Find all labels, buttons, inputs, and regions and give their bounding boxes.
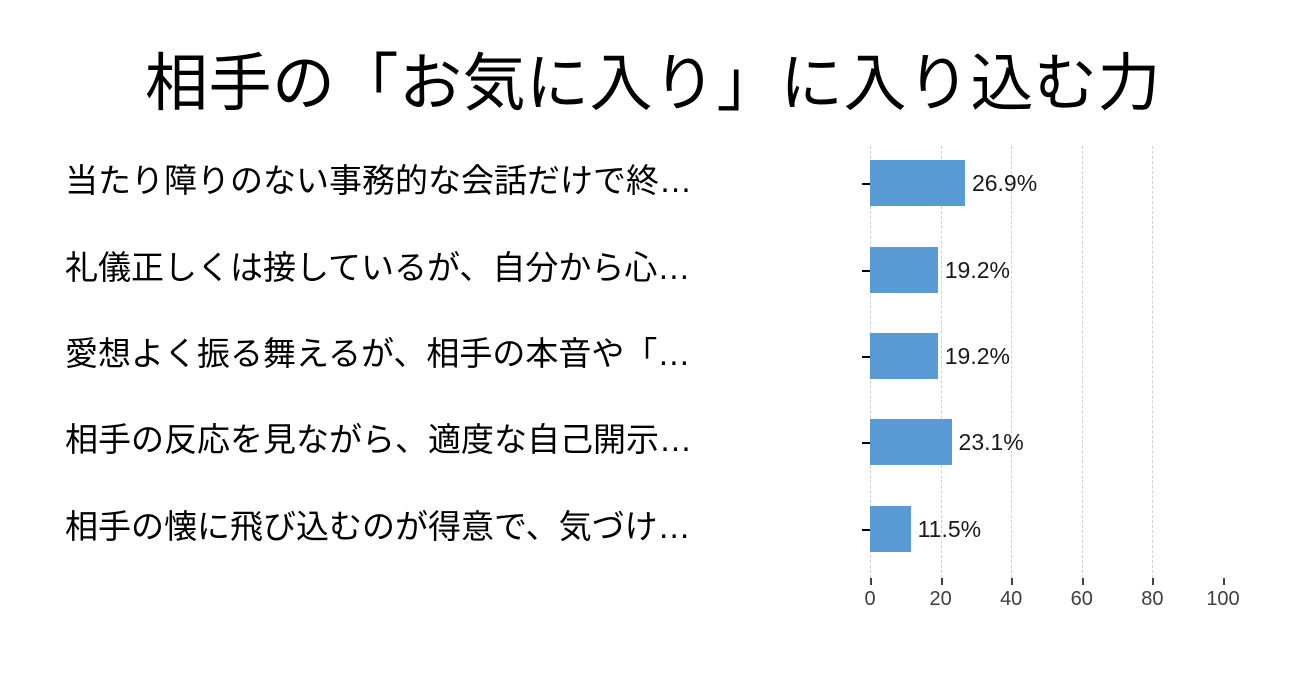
chart-plot-area: 当たり障りのない事務的な会話だけで終…26.9%礼儀正しくは接しているが、自分か…: [870, 146, 1223, 578]
bar[interactable]: [870, 247, 938, 293]
category-label: 相手の反応を見ながら、適度な自己開示…: [65, 420, 860, 460]
x-tick-label-60: 60: [1071, 587, 1093, 611]
chart-slide: 相手の「お気に入り」に入り込む力 当たり障りのない事務的な会話だけで終…26.9…: [0, 0, 1306, 683]
x-tick-mark-60: [1082, 578, 1084, 585]
bar[interactable]: [870, 506, 911, 552]
y-tick-mark: [862, 529, 870, 531]
x-tick-label-100: 100: [1206, 587, 1239, 611]
gridline-20: [941, 146, 942, 578]
gridline-80: [1152, 146, 1153, 578]
y-tick-mark: [862, 270, 870, 272]
x-tick-mark-80: [1152, 578, 1154, 585]
bar-value-label: 19.2%: [945, 343, 1010, 369]
category-label: 相手の懐に飛び込むのが得意で、気づけ…: [65, 507, 860, 547]
gridline-60: [1082, 146, 1083, 578]
x-tick-mark-20: [941, 578, 943, 585]
gridline-40: [1011, 146, 1012, 578]
bar-value-label: 26.9%: [972, 170, 1037, 196]
page-title: 相手の「お気に入り」に入り込む力: [0, 44, 1306, 124]
x-axis: 020406080100: [870, 578, 1223, 618]
x-tick-label-40: 40: [1000, 587, 1022, 611]
x-tick-mark-100: [1223, 578, 1225, 585]
x-tick-label-0: 0: [864, 587, 875, 611]
bar-value-label: 23.1%: [959, 429, 1024, 455]
y-tick-mark: [862, 442, 870, 444]
y-tick-mark: [862, 183, 870, 185]
x-tick-label-20: 20: [929, 587, 951, 611]
x-tick-mark-0: [870, 578, 872, 585]
x-tick-mark-40: [1011, 578, 1013, 585]
category-label: 愛想よく振る舞えるが、相手の本音や「…: [65, 334, 860, 374]
y-tick-mark: [862, 356, 870, 358]
x-tick-label-80: 80: [1141, 587, 1163, 611]
bar-value-label: 19.2%: [945, 257, 1010, 283]
bar[interactable]: [870, 333, 938, 379]
category-label: 礼儀正しくは接しているが、自分から心…: [65, 248, 860, 288]
bar[interactable]: [870, 160, 965, 206]
bar[interactable]: [870, 419, 952, 465]
bar-value-label: 11.5%: [918, 516, 982, 542]
category-label: 当たり障りのない事務的な会話だけで終…: [65, 161, 860, 201]
